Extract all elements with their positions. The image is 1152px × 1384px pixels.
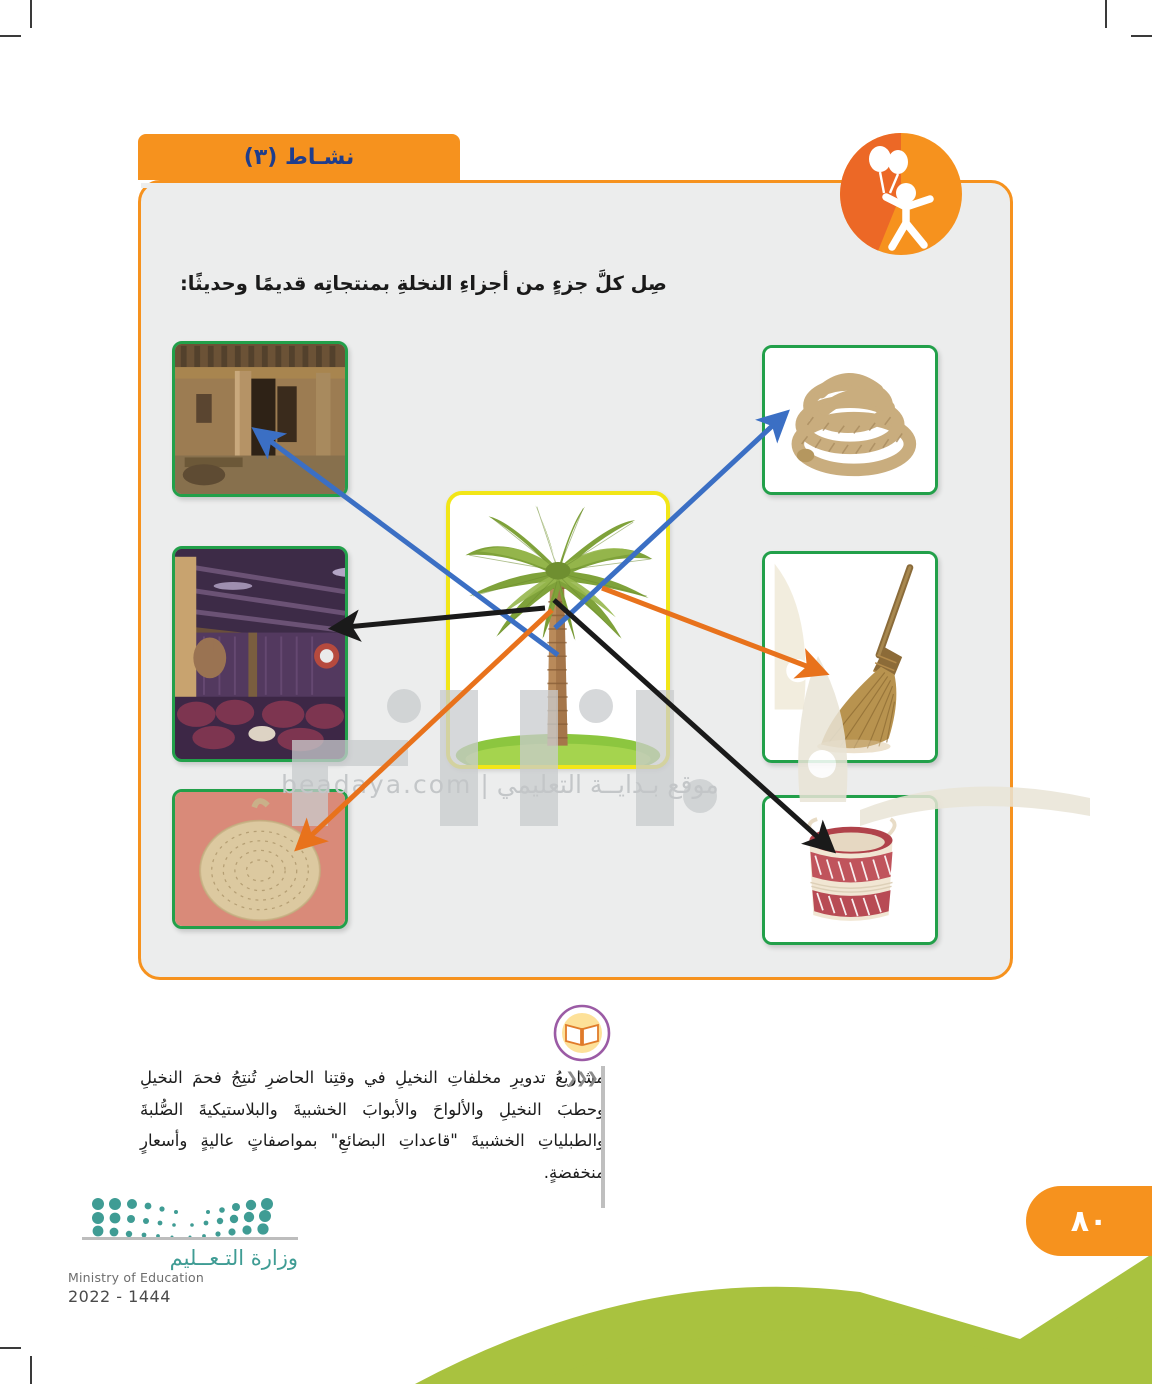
card-woven-palm-mat[interactable] xyxy=(172,789,348,929)
crop-mark-top-right-horizontal xyxy=(1131,35,1152,37)
card-mud-house-interior[interactable] xyxy=(172,341,348,497)
ministry-logo-icon xyxy=(82,1196,298,1242)
crop-mark-top-right-vertical xyxy=(1105,0,1107,28)
traditional-majlis-image xyxy=(175,549,345,759)
open-book-icon xyxy=(552,1003,612,1063)
info-note-bar xyxy=(601,1066,605,1208)
palm-tree-image xyxy=(450,495,666,765)
activity-prompt: صِل كلَّ جزءٍ من أجزاءِ النخلةِ بمنتجاتِ… xyxy=(180,272,860,295)
child-with-balloons-icon xyxy=(838,131,964,257)
card-woven-basket[interactable] xyxy=(762,795,938,945)
info-note: ❮❮❮ مشاريعُ تدويرِ مخلفاتِ النخيلِ في وق… xyxy=(140,1062,605,1189)
activity-tab: نشـاط (٣) xyxy=(138,134,460,180)
quote-glyph: ❮❮❮ xyxy=(565,1064,597,1093)
woven-palm-mat-image xyxy=(175,792,345,926)
card-traditional-majlis[interactable] xyxy=(172,546,348,762)
card-palm-tree[interactable] xyxy=(446,491,670,769)
coiled-rope-image xyxy=(765,348,935,492)
ministry-footer: وزارة التـعــليم Ministry of Education 2… xyxy=(68,1196,298,1306)
woven-basket-image xyxy=(765,798,935,942)
crop-mark-top-left-horizontal xyxy=(0,35,21,37)
ministry-year: 2022 - 1444 xyxy=(68,1287,298,1306)
ministry-name-arabic: وزارة التـعــليم xyxy=(68,1246,298,1270)
palm-frond-broom-image xyxy=(765,554,935,760)
mud-house-interior-image xyxy=(175,344,345,494)
page-number-badge: ٨٠ xyxy=(1026,1186,1152,1256)
activity-tab-label: نشـاط (٣) xyxy=(244,145,355,170)
ministry-name-english: Ministry of Education xyxy=(68,1270,298,1285)
card-palm-frond-broom[interactable] xyxy=(762,551,938,763)
card-coiled-rope[interactable] xyxy=(762,345,938,495)
page-number: ٨٠ xyxy=(1071,1204,1108,1239)
info-note-text: مشاريعُ تدويرِ مخلفاتِ النخيلِ في وقتِنا… xyxy=(140,1068,605,1182)
crop-mark-top-left-vertical xyxy=(30,0,32,28)
